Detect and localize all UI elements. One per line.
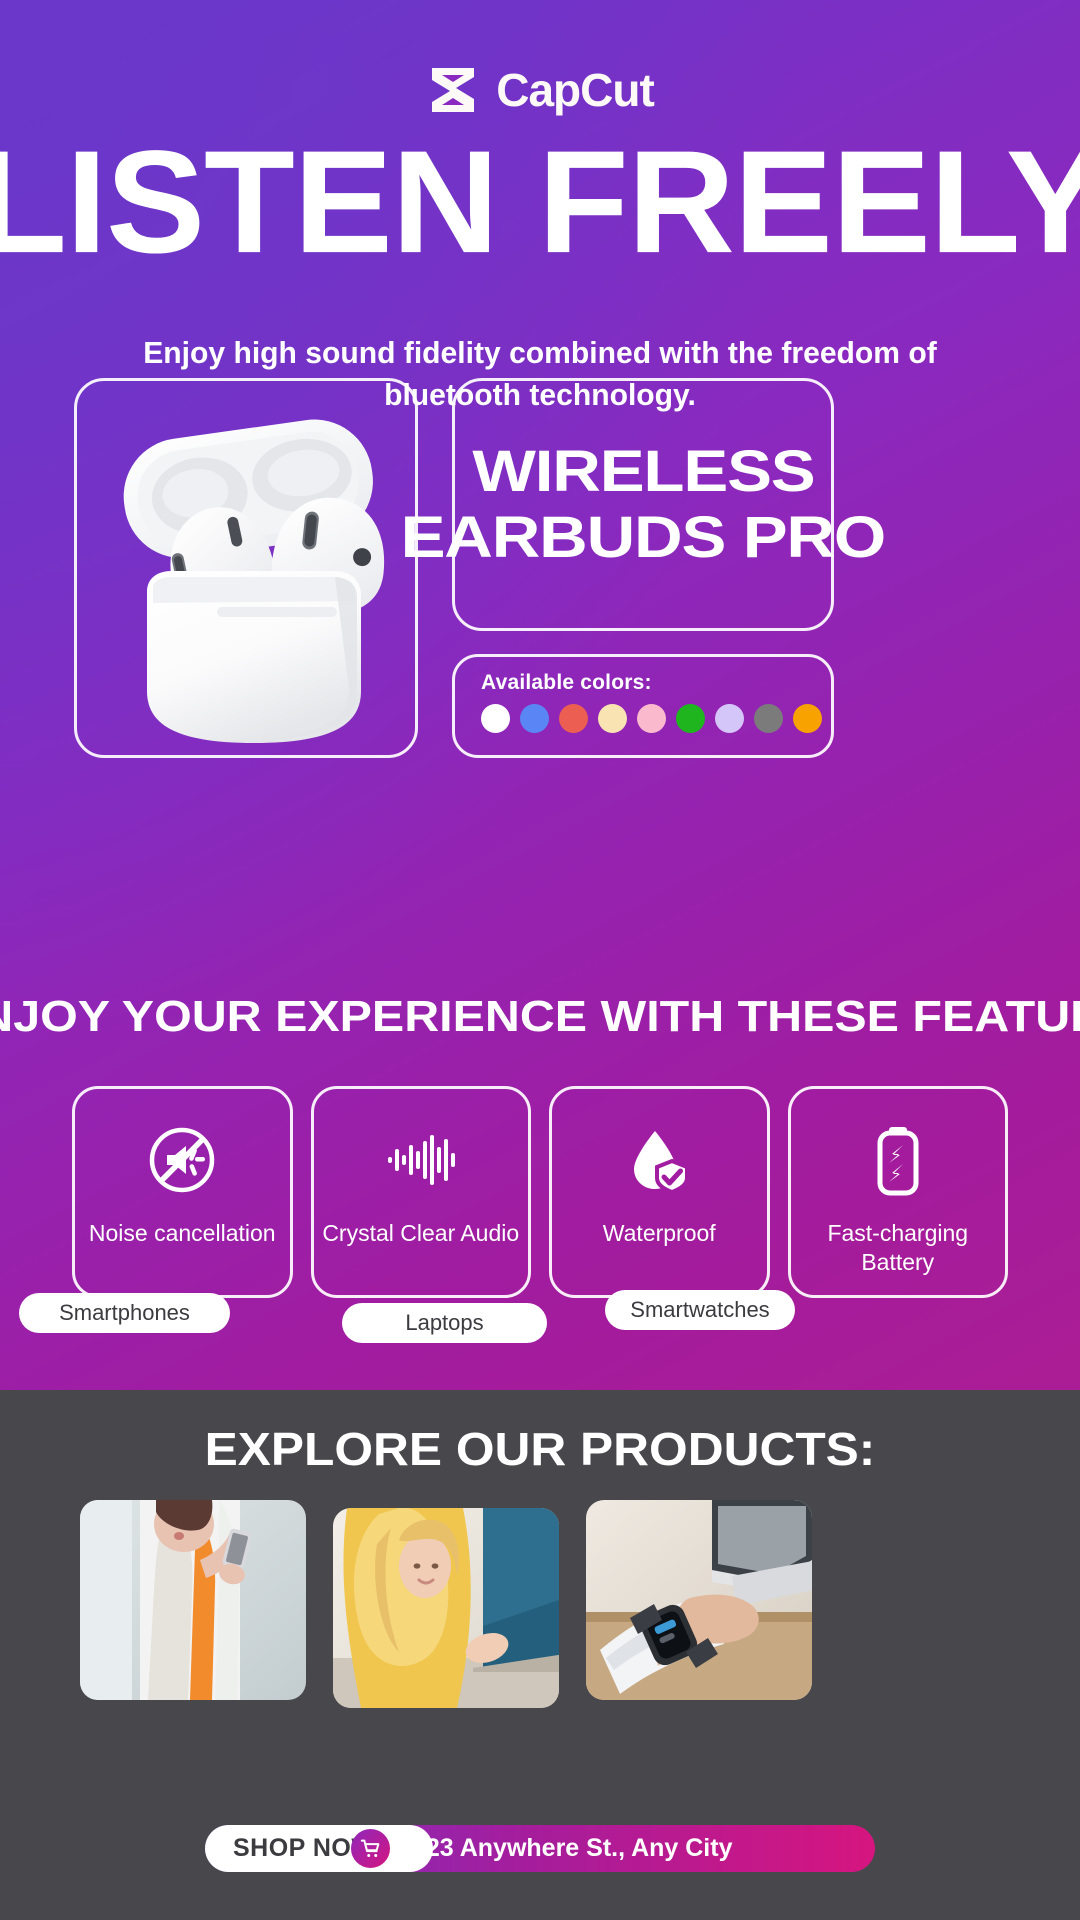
color-swatch-lavender[interactable] — [715, 704, 744, 733]
brand-name: CapCut — [496, 67, 654, 113]
product-card-smartphones[interactable] — [80, 1500, 306, 1700]
color-swatch-coral[interactable] — [559, 704, 588, 733]
color-swatch-pink[interactable] — [637, 704, 666, 733]
product-label-smartwatches[interactable]: Smartwatches — [605, 1290, 795, 1330]
product-card-grid — [80, 1500, 1000, 1725]
feature-label-waterproof: Waterproof — [595, 1219, 724, 1248]
feature-card-waterproof: Waterproof — [549, 1086, 770, 1298]
feature-label-crystal-clear-audio: Crystal Clear Audio — [314, 1219, 527, 1248]
shop-now-button[interactable]: SHOP NOW — [205, 1825, 433, 1872]
features-grid: Noise cancellation — [72, 1086, 1008, 1298]
color-swatch-row — [481, 704, 807, 733]
audio-waveform-icon — [384, 1123, 458, 1197]
feature-card-crystal-clear-audio: Crystal Clear Audio — [311, 1086, 532, 1298]
capcut-hourglass-icon — [426, 64, 480, 116]
product-name-card: WIRELESS EARBUDS PRO — [452, 378, 834, 631]
color-swatch-orange[interactable] — [793, 704, 822, 733]
color-swatch-blue[interactable] — [520, 704, 549, 733]
smartwatches-photo — [586, 1500, 812, 1700]
shop-address: 123 Anywhere St., Any City — [412, 1825, 732, 1872]
product-label-smartphones[interactable]: Smartphones — [19, 1293, 230, 1333]
product-label-laptops[interactable]: Laptops — [342, 1303, 547, 1343]
shopping-cart-icon — [360, 1838, 381, 1859]
feature-card-noise-cancellation: Noise cancellation — [72, 1086, 293, 1298]
hero-section: CapCut LISTEN FREELY Enjoy high sound fi… — [0, 0, 1080, 1390]
feature-card-fast-charging-battery: Fast-charging Battery — [788, 1086, 1009, 1298]
product-name-line-2: EARBUDS PRO — [401, 507, 885, 568]
product-card-smartwatches[interactable] — [586, 1500, 812, 1700]
product-card-laptops[interactable] — [333, 1508, 559, 1708]
poster-canvas: CapCut LISTEN FREELY Enjoy high sound fi… — [0, 0, 1080, 1920]
earbuds-product-image — [74, 391, 418, 751]
color-swatch-white[interactable] — [481, 704, 510, 733]
feature-label-fast-charging-battery: Fast-charging Battery — [791, 1219, 1006, 1277]
feature-label-noise-cancellation: Noise cancellation — [81, 1219, 284, 1248]
color-swatch-gray[interactable] — [754, 704, 783, 733]
product-name-line-1: WIRELESS — [472, 441, 814, 502]
explore-heading: EXPLORE OUR PRODUCTS: — [0, 1426, 1080, 1472]
color-swatch-cream[interactable] — [598, 704, 627, 733]
noise-cancellation-icon — [145, 1123, 219, 1197]
features-heading: ENJOY YOUR EXPERIENCE WITH THESE FEATURE… — [0, 995, 1080, 1039]
shop-now-bar[interactable]: SHOP NOW 123 Anywhere St., Any City — [205, 1825, 875, 1872]
available-colors-card: Available colors: — [452, 654, 834, 758]
shopping-cart-badge[interactable] — [351, 1829, 390, 1868]
product-photo-card — [74, 378, 418, 758]
laptops-photo — [333, 1508, 559, 1708]
fast-charging-battery-icon — [861, 1123, 935, 1197]
smartphones-photo — [80, 1500, 306, 1700]
waterproof-drop-icon — [622, 1123, 696, 1197]
available-colors-label: Available colors: — [481, 671, 807, 695]
color-swatch-green[interactable] — [676, 704, 705, 733]
brand-lockup: CapCut — [0, 64, 1080, 116]
hero-headline: LISTEN FREELY — [0, 128, 1080, 277]
